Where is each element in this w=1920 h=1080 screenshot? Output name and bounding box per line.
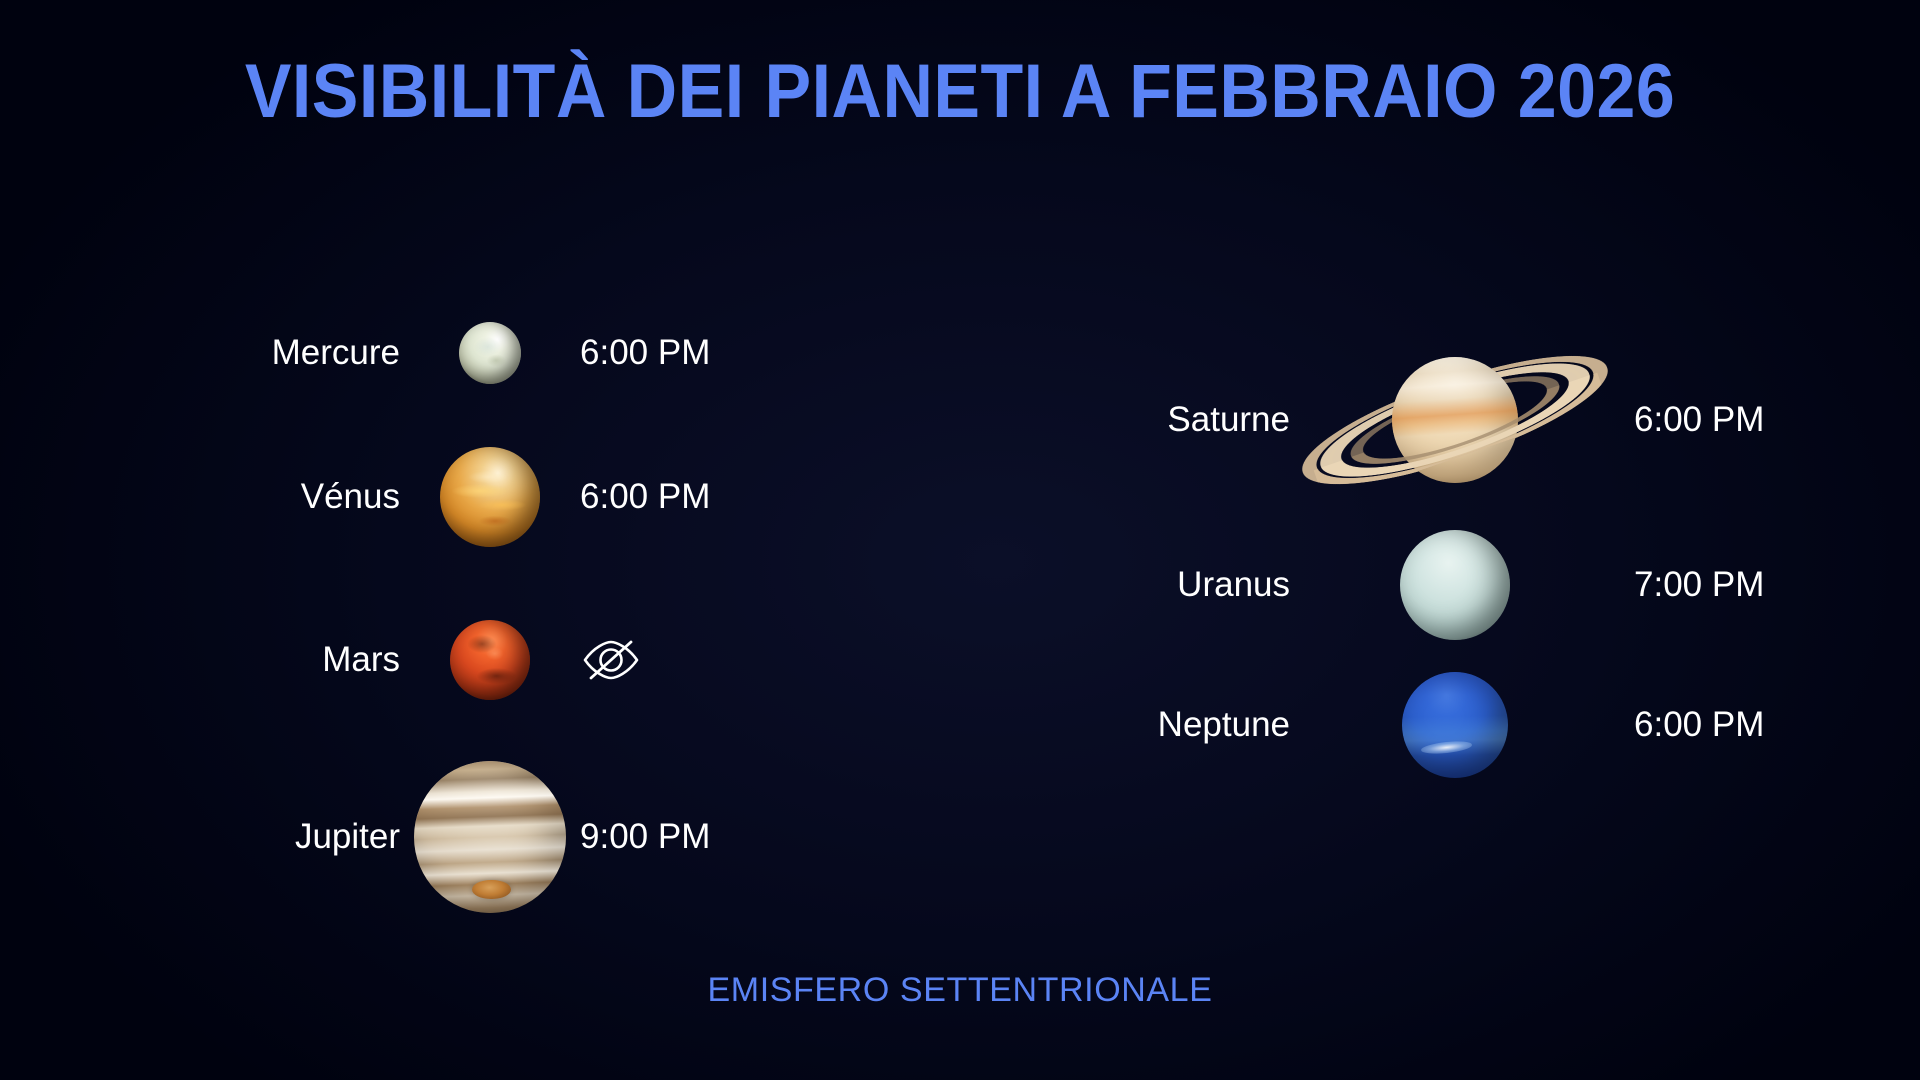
saturn-planet-icon bbox=[1290, 330, 1620, 510]
uranus-planet-icon bbox=[1290, 515, 1620, 655]
planet-name-neptune: Neptune bbox=[1110, 705, 1290, 745]
planet-name-jupiter: Jupiter bbox=[150, 817, 400, 857]
planet-row-jupiter[interactable]: Jupiter 9:00 PM bbox=[150, 752, 820, 922]
planet-row-saturne[interactable]: Saturne 6:00 PM bbox=[1110, 330, 1870, 510]
planet-name-venus: Vénus bbox=[150, 477, 400, 517]
planet-name-mars: Mars bbox=[150, 640, 400, 680]
planet-time-venus: 6:00 PM bbox=[580, 477, 810, 517]
neptune-planet-icon bbox=[1290, 655, 1620, 795]
mars-planet-icon bbox=[400, 605, 580, 715]
planet-time-saturne: 6:00 PM bbox=[1620, 400, 1854, 440]
planet-row-mars[interactable]: Mars bbox=[150, 605, 820, 715]
planet-row-uranus[interactable]: Uranus 7:00 PM bbox=[1110, 515, 1870, 655]
planet-name-mercure: Mercure bbox=[150, 333, 400, 373]
mercury-planet-icon bbox=[400, 298, 580, 408]
planet-time-jupiter: 9:00 PM bbox=[580, 817, 810, 857]
jupiter-planet-icon bbox=[400, 752, 580, 922]
planet-time-neptune: 6:00 PM bbox=[1620, 705, 1854, 745]
eye-off-icon bbox=[580, 638, 810, 682]
planet-row-neptune[interactable]: Neptune 6:00 PM bbox=[1110, 655, 1870, 795]
planet-row-venus[interactable]: Vénus 6:00 PM bbox=[150, 432, 820, 562]
page-title: VISIBILITÀ DEI PIANETI A FEBBRAIO 2026 bbox=[77, 48, 1843, 135]
planet-name-saturne: Saturne bbox=[1110, 400, 1290, 440]
planet-time-uranus: 7:00 PM bbox=[1620, 565, 1854, 605]
hemisphere-label: EMISFERO SETTENTRIONALE bbox=[0, 971, 1920, 1010]
planet-name-uranus: Uranus bbox=[1110, 565, 1290, 605]
venus-planet-icon bbox=[400, 432, 580, 562]
planet-row-mercure[interactable]: Mercure 6:00 PM bbox=[150, 298, 820, 408]
planet-visibility-infographic: VISIBILITÀ DEI PIANETI A FEBBRAIO 2026 M… bbox=[0, 0, 1920, 1080]
planet-time-mercure: 6:00 PM bbox=[580, 333, 810, 373]
